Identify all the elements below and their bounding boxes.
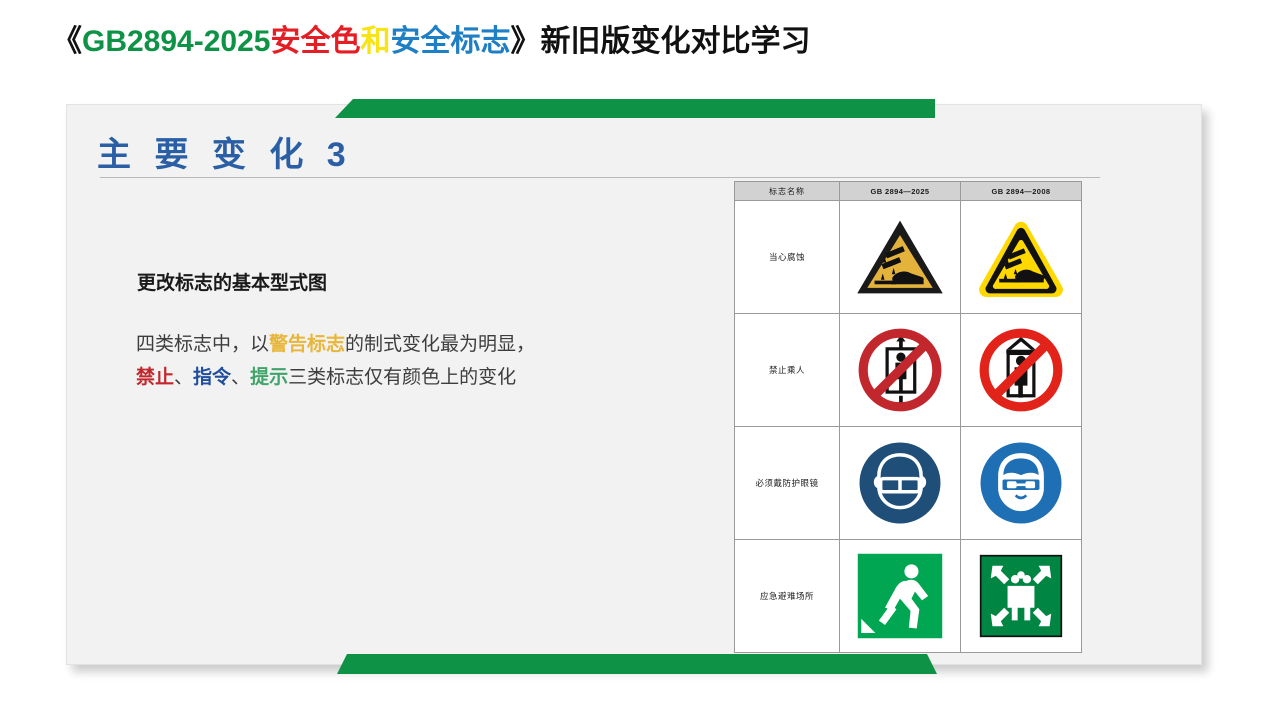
running-person-emergency-sign-2025 xyxy=(856,552,944,640)
page-title: 《GB2894-2025安全色和安全标志》新旧版变化对比学习 xyxy=(52,22,810,62)
para-emphasis-warning: 警告标志 xyxy=(269,334,345,355)
para-line2-post: 三类标志仅有颜色上的变化 xyxy=(288,367,516,388)
heading-divider xyxy=(100,177,1100,178)
green-banner-bottom xyxy=(337,654,937,674)
no-riding-sign-2025 xyxy=(854,324,946,416)
table-header-name: 标志名称 xyxy=(735,182,840,201)
page-title-seg-standard: GB2894-2025 xyxy=(82,25,270,58)
body-title: 更改标志的基本型式图 xyxy=(137,268,327,295)
sign-cell-assembly-2025 xyxy=(840,540,961,653)
sign-cell-no-riding-2025 xyxy=(840,314,961,427)
comparison-table: 标志名称 GB 2894—2025 GB 2894—2008 当心腐蚀 xyxy=(734,181,1082,653)
table-row: 禁止乘人 xyxy=(735,314,1082,427)
sign-cell-no-riding-2008 xyxy=(961,314,1082,427)
corrosion-warning-sign-2025 xyxy=(854,217,946,297)
row-label-corrosion: 当心腐蚀 xyxy=(735,201,840,314)
page-title-seg-safetysign: 安全标志 xyxy=(390,25,510,58)
goggles-mandatory-sign-2008 xyxy=(977,439,1065,527)
corrosion-warning-sign-2008 xyxy=(975,217,1067,297)
para-sep-1: 、 xyxy=(174,367,193,388)
page-title-seg-tail: 》新旧版变化对比学习 xyxy=(510,25,810,58)
sign-cell-goggles-2008 xyxy=(961,427,1082,540)
sign-cell-corrosion-2025 xyxy=(840,201,961,314)
goggles-mandatory-sign-2025 xyxy=(856,439,944,527)
body-paragraph: 四类标志中，以警告标志的制式变化最为明显， 禁止、指令、提示三类标志仅有颜色上的… xyxy=(136,328,535,394)
no-riding-sign-2008 xyxy=(975,324,1067,416)
table-row: 必须戴防护眼镜 xyxy=(735,427,1082,540)
para-emphasis-prohibition: 禁止 xyxy=(136,367,174,388)
para-emphasis-mandatory: 指令 xyxy=(193,367,231,388)
page-title-seg-0: 《 xyxy=(52,25,82,58)
table-header-old: GB 2894—2008 xyxy=(961,182,1082,201)
para-sep-2: 、 xyxy=(231,367,250,388)
row-label-assembly-point: 应急避难场所 xyxy=(735,540,840,653)
table-row: 应急避难场所 xyxy=(735,540,1082,653)
assembly-point-sign-2008 xyxy=(979,554,1063,638)
sign-cell-corrosion-2008 xyxy=(961,201,1082,314)
table-row: 当心腐蚀 xyxy=(735,201,1082,314)
para-emphasis-notice: 提示 xyxy=(250,367,288,388)
page-title-seg-and: 和 xyxy=(360,25,390,58)
para-line1-pre: 四类标志中，以 xyxy=(136,334,269,355)
sign-cell-goggles-2025 xyxy=(840,427,961,540)
section-heading: 主 要 变 化 3 xyxy=(97,127,353,176)
para-line1-post: 的制式变化最为明显， xyxy=(345,334,535,355)
row-label-goggles: 必须戴防护眼镜 xyxy=(735,427,840,540)
row-label-no-riding: 禁止乘人 xyxy=(735,314,840,427)
sign-cell-assembly-2008 xyxy=(961,540,1082,653)
table-header-new: GB 2894—2025 xyxy=(840,182,961,201)
green-banner-top xyxy=(335,99,935,118)
page-title-seg-safetycolor: 安全色 xyxy=(270,25,360,58)
table-header-row: 标志名称 GB 2894—2025 GB 2894—2008 xyxy=(735,182,1082,201)
